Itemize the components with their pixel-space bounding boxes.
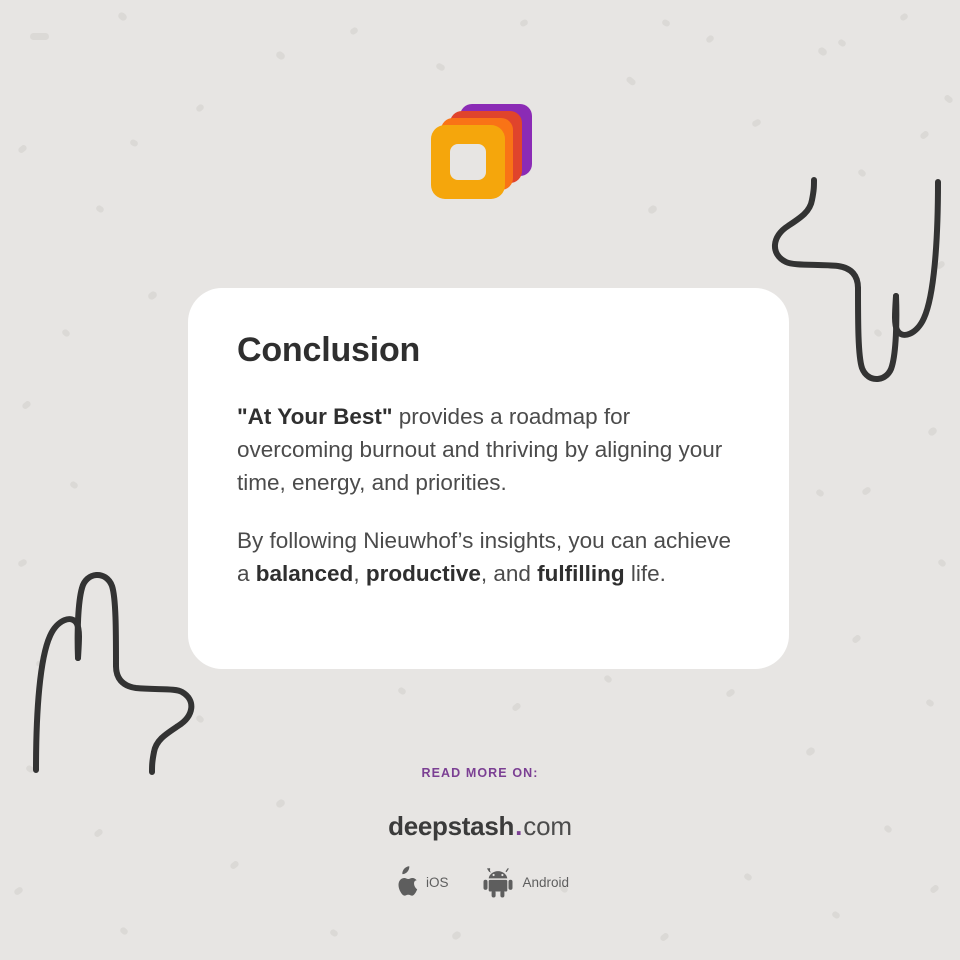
background-speck xyxy=(857,168,867,178)
emphasis-text: "At Your Best" xyxy=(237,404,393,429)
background-speck xyxy=(725,688,736,698)
background-speck xyxy=(511,702,522,712)
background-speck xyxy=(21,400,32,410)
background-speck xyxy=(349,26,359,36)
background-speck xyxy=(397,686,407,696)
background-speck xyxy=(147,290,158,301)
pointing-hand-icon-bottom-left xyxy=(24,564,204,780)
page-title: Conclusion xyxy=(237,332,739,369)
apple-icon xyxy=(391,866,418,898)
logo-center-cutout xyxy=(450,144,486,180)
background-speck xyxy=(805,746,816,757)
background-speck xyxy=(435,62,446,72)
poster-canvas: Conclusion "At Your Best" provides a roa… xyxy=(0,0,960,960)
background-speck xyxy=(705,34,715,44)
background-speck xyxy=(95,204,105,214)
background-speck xyxy=(927,426,938,437)
background-speck xyxy=(17,144,28,154)
background-speck xyxy=(35,658,46,668)
background-speck xyxy=(851,634,862,644)
content-card: Conclusion "At Your Best" provides a roa… xyxy=(188,288,789,669)
card-paragraph-1: "At Your Best" provides a roadmap for ov… xyxy=(237,400,739,499)
background-speck xyxy=(119,926,129,936)
background-speck xyxy=(659,932,670,942)
card-paragraph-2: By following Nieuwhof’s insights, you ca… xyxy=(237,524,739,590)
background-speck xyxy=(69,480,79,490)
background-speck xyxy=(661,18,671,27)
background-speck xyxy=(837,38,847,48)
body-text: life. xyxy=(625,561,666,586)
emphasis-text: fulfilling xyxy=(537,561,624,586)
background-speck xyxy=(61,328,71,338)
background-speck xyxy=(329,928,339,938)
background-speck xyxy=(831,910,841,920)
background-speck xyxy=(625,75,637,86)
store-label-ios: iOS xyxy=(426,875,449,890)
brand-name: deepstash xyxy=(388,811,514,841)
background-speck xyxy=(751,118,762,128)
background-speck xyxy=(817,46,828,57)
body-text: , xyxy=(353,561,366,586)
brand-url[interactable]: deepstash.com xyxy=(0,813,960,839)
background-speck xyxy=(919,130,930,140)
background-speck xyxy=(873,328,883,338)
background-speck xyxy=(30,33,49,40)
store-label-android: Android xyxy=(522,875,569,890)
background-speck xyxy=(647,204,658,215)
background-speck xyxy=(925,698,935,708)
background-speck xyxy=(195,103,205,113)
background-speck xyxy=(451,930,462,941)
store-badge-ios[interactable]: iOS xyxy=(391,866,449,898)
body-text: , and xyxy=(481,561,537,586)
background-speck xyxy=(117,11,128,22)
background-speck xyxy=(861,486,872,496)
read-more-label: READ MORE ON: xyxy=(0,766,960,780)
background-speck xyxy=(899,12,909,22)
background-speck xyxy=(275,50,286,61)
background-speck xyxy=(935,260,946,270)
background-speck xyxy=(129,138,139,147)
footer: READ MORE ON: deepstash.com iOS xyxy=(0,766,960,898)
background-speck xyxy=(195,714,205,724)
background-speck xyxy=(815,488,825,498)
deepstash-logo xyxy=(424,100,524,200)
background-speck xyxy=(937,558,947,568)
background-speck xyxy=(603,674,613,684)
store-badge-android[interactable]: Android xyxy=(482,866,569,898)
emphasis-text: productive xyxy=(366,561,481,586)
background-speck xyxy=(943,94,954,104)
android-icon xyxy=(482,866,514,898)
store-badges: iOS Android xyxy=(0,866,960,898)
brand-dot: . xyxy=(514,811,523,841)
emphasis-text: balanced xyxy=(256,561,354,586)
background-speck xyxy=(17,558,28,568)
background-speck xyxy=(519,18,529,27)
brand-tld: com xyxy=(523,811,572,841)
